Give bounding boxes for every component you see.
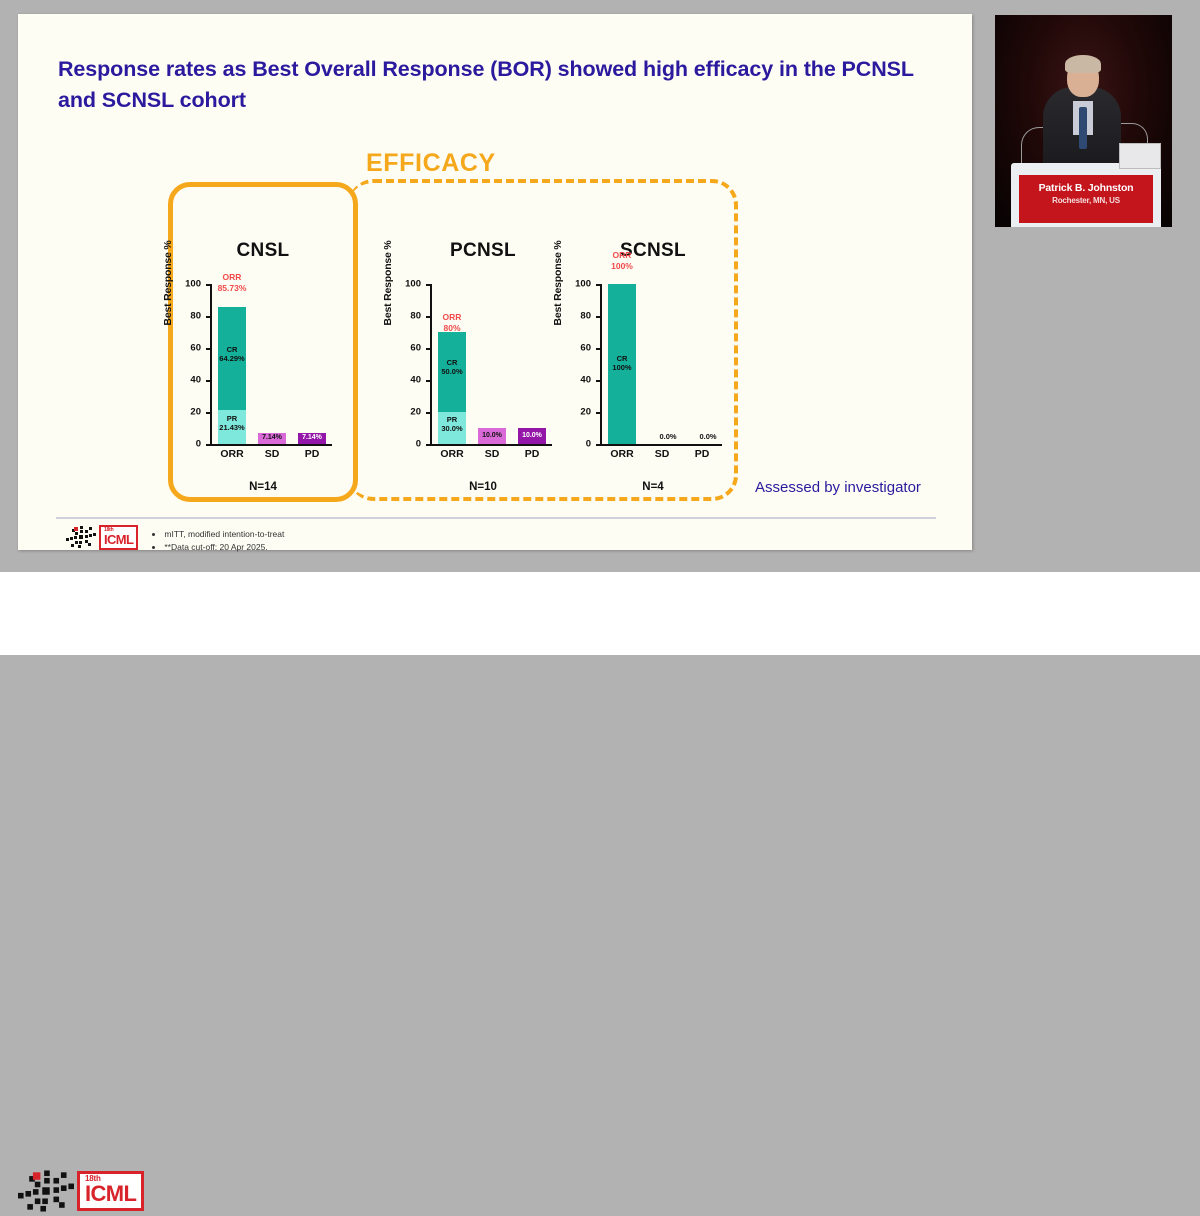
y-tick-20: 20 — [410, 407, 421, 418]
axes-scnsl: 0 20 40 60 80 100 ORR 100% CR 100% — [600, 284, 720, 444]
plot-area-pcnsl: Best Response % 0 20 40 60 80 100 ORR 80… — [388, 276, 578, 466]
sample-size-scnsl: N=4 — [558, 481, 748, 493]
y-axis-line — [210, 284, 212, 444]
x-tick-pd-scnsl: PD — [682, 448, 722, 460]
icml-logo-footer: 18th ICML — [66, 524, 138, 550]
chart-panel-cnsl: CNSL Best Response % 0 20 40 60 80 100 O… — [168, 192, 358, 492]
y-tick-100: 100 — [405, 279, 421, 290]
x-tick-orr-scnsl: ORR — [602, 448, 642, 460]
speaker-name: Patrick B. Johnston — [1019, 175, 1153, 194]
sample-size-cnsl: N=14 — [168, 481, 358, 493]
chart-panel-scnsl: SCNSL Best Response % 0 20 40 60 80 100 … — [558, 192, 748, 492]
bottom-branding-bar: 18th ICML — [0, 572, 1200, 655]
chart-title-pcnsl: PCNSL — [388, 240, 578, 262]
footer-divider — [56, 517, 936, 519]
assessed-by-note: Assessed by investigator — [755, 479, 921, 496]
bar-label-sd-scnsl: 0.0% — [648, 432, 688, 441]
page-title: Response rates as Best Overall Response … — [58, 54, 938, 115]
sample-size-pcnsl: N=10 — [388, 481, 578, 493]
y-tick-80: 80 — [190, 311, 201, 322]
bar-orr-scnsl: CR 100% — [608, 284, 636, 444]
bar-label-cr-cnsl: CR 64.29% — [218, 345, 246, 364]
icml-starburst-icon — [66, 524, 96, 550]
y-axis-line — [430, 284, 432, 444]
bar-label-pd-pcnsl: 10.0% — [518, 432, 546, 440]
bar-label-pd-scnsl: 0.0% — [688, 432, 728, 441]
speaker-tie — [1079, 107, 1087, 149]
x-axis-line — [430, 444, 552, 446]
bar-label-pd-cnsl: 7.14% — [298, 434, 326, 442]
bar-pd-pcnsl: 10.0% — [518, 428, 546, 444]
plot-area-scnsl: Best Response % 0 20 40 60 80 100 ORR 10… — [558, 276, 748, 466]
y-tick-0: 0 — [196, 439, 201, 450]
y-axis-line — [600, 284, 602, 444]
footnote-item: mITT, modified intention-to-treat — [164, 528, 284, 541]
laptop-icon — [1119, 143, 1161, 169]
bar-label-cr-scnsl: CR 100% — [608, 354, 636, 373]
bar-segment-pr-cnsl: PR 21.43% — [218, 410, 246, 444]
chart-title-scnsl: SCNSL — [558, 240, 748, 262]
y-tick-80: 80 — [410, 311, 421, 322]
y-tick-40: 40 — [580, 375, 591, 386]
bar-label-sd-pcnsl: 10.0% — [478, 432, 506, 440]
x-tick-pd-pcnsl: PD — [512, 448, 552, 460]
y-tick-40: 40 — [190, 375, 201, 386]
y-tick-20: 20 — [580, 407, 591, 418]
footnote-item: **Data cut-off: 20 Apr 2025. — [164, 541, 284, 554]
footnotes: mITT, modified intention-to-treat **Data… — [152, 524, 284, 554]
icml-wordmark: 18th ICML — [99, 525, 138, 550]
icml-wordmark: 18th ICML — [77, 1171, 144, 1211]
y-axis-label-cnsl: Best Response % — [162, 238, 174, 328]
orr-annotation-pcnsl: ORR 80% — [422, 312, 482, 334]
y-tick-0: 0 — [586, 439, 591, 450]
y-tick-20: 20 — [190, 407, 201, 418]
axes-pcnsl: 0 20 40 60 80 100 ORR 80% CR 50.0% — [430, 284, 550, 444]
bar-pd-cnsl: 7.14% — [298, 433, 326, 444]
y-tick-60: 60 — [190, 343, 201, 354]
speaker-hair — [1065, 55, 1101, 73]
x-tick-sd-scnsl: SD — [642, 448, 682, 460]
bar-label-cr-pcnsl: CR 50.0% — [438, 358, 466, 377]
bar-label-pr-cnsl: PR 21.43% — [218, 414, 246, 433]
x-tick-sd-pcnsl: SD — [472, 448, 512, 460]
y-tick-40: 40 — [410, 375, 421, 386]
x-axis-line — [600, 444, 722, 446]
x-tick-sd-cnsl: SD — [252, 448, 292, 460]
bar-label-pr-pcnsl: PR 30.0% — [438, 415, 466, 434]
orr-annotation-cnsl: ORR 85.73% — [202, 272, 262, 294]
bar-sd-pcnsl: 10.0% — [478, 428, 506, 444]
y-tick-60: 60 — [410, 343, 421, 354]
y-tick-100: 100 — [185, 279, 201, 290]
bar-label-sd-cnsl: 7.14% — [258, 434, 286, 442]
speaker-location: Rochester, MN, US — [1019, 194, 1153, 205]
y-axis-label-scnsl: Best Response % — [552, 238, 564, 328]
speaker-nameplate: Patrick B. Johnston Rochester, MN, US — [1019, 175, 1153, 223]
section-banner-efficacy: EFFICACY — [366, 149, 496, 178]
y-tick-0: 0 — [416, 439, 421, 450]
slide-footer: 18th ICML mITT, modified intention-to-tr… — [66, 524, 946, 560]
speaker-video-thumbnail[interactable]: Patrick B. Johnston Rochester, MN, US — [995, 15, 1172, 227]
plot-area-cnsl: Best Response % 0 20 40 60 80 100 ORR 85… — [168, 276, 358, 466]
bar-orr-pcnsl: CR 50.0% PR 30.0% — [438, 332, 466, 444]
x-tick-pd-cnsl: PD — [292, 448, 332, 460]
icml-logo-main: 18th ICML — [18, 1166, 144, 1216]
y-tick-80: 80 — [580, 311, 591, 322]
x-axis-line — [210, 444, 332, 446]
orr-annotation-scnsl: ORR 100% — [592, 250, 652, 272]
bar-orr-cnsl: CR 64.29% PR 21.43% — [218, 307, 246, 444]
y-axis-label-pcnsl: Best Response % — [382, 238, 394, 328]
axes-cnsl: 0 20 40 60 80 100 ORR 85.73% CR 64.29% — [210, 284, 330, 444]
chart-title-cnsl: CNSL — [168, 240, 358, 262]
bar-sd-cnsl: 7.14% — [258, 433, 286, 444]
bar-segment-cr-cnsl: CR 64.29% — [218, 307, 246, 410]
x-tick-orr-cnsl: ORR — [212, 448, 252, 460]
bar-segment-pr-pcnsl: PR 30.0% — [438, 412, 466, 444]
chart-panel-pcnsl: PCNSL Best Response % 0 20 40 60 80 100 … — [388, 192, 578, 492]
bar-segment-cr-scnsl: CR 100% — [608, 284, 636, 444]
y-tick-60: 60 — [580, 343, 591, 354]
bar-segment-cr-pcnsl: CR 50.0% — [438, 332, 466, 412]
presentation-slide: Response rates as Best Overall Response … — [18, 14, 972, 550]
x-tick-orr-pcnsl: ORR — [432, 448, 472, 460]
icml-starburst-icon — [18, 1166, 74, 1216]
y-tick-100: 100 — [575, 279, 591, 290]
